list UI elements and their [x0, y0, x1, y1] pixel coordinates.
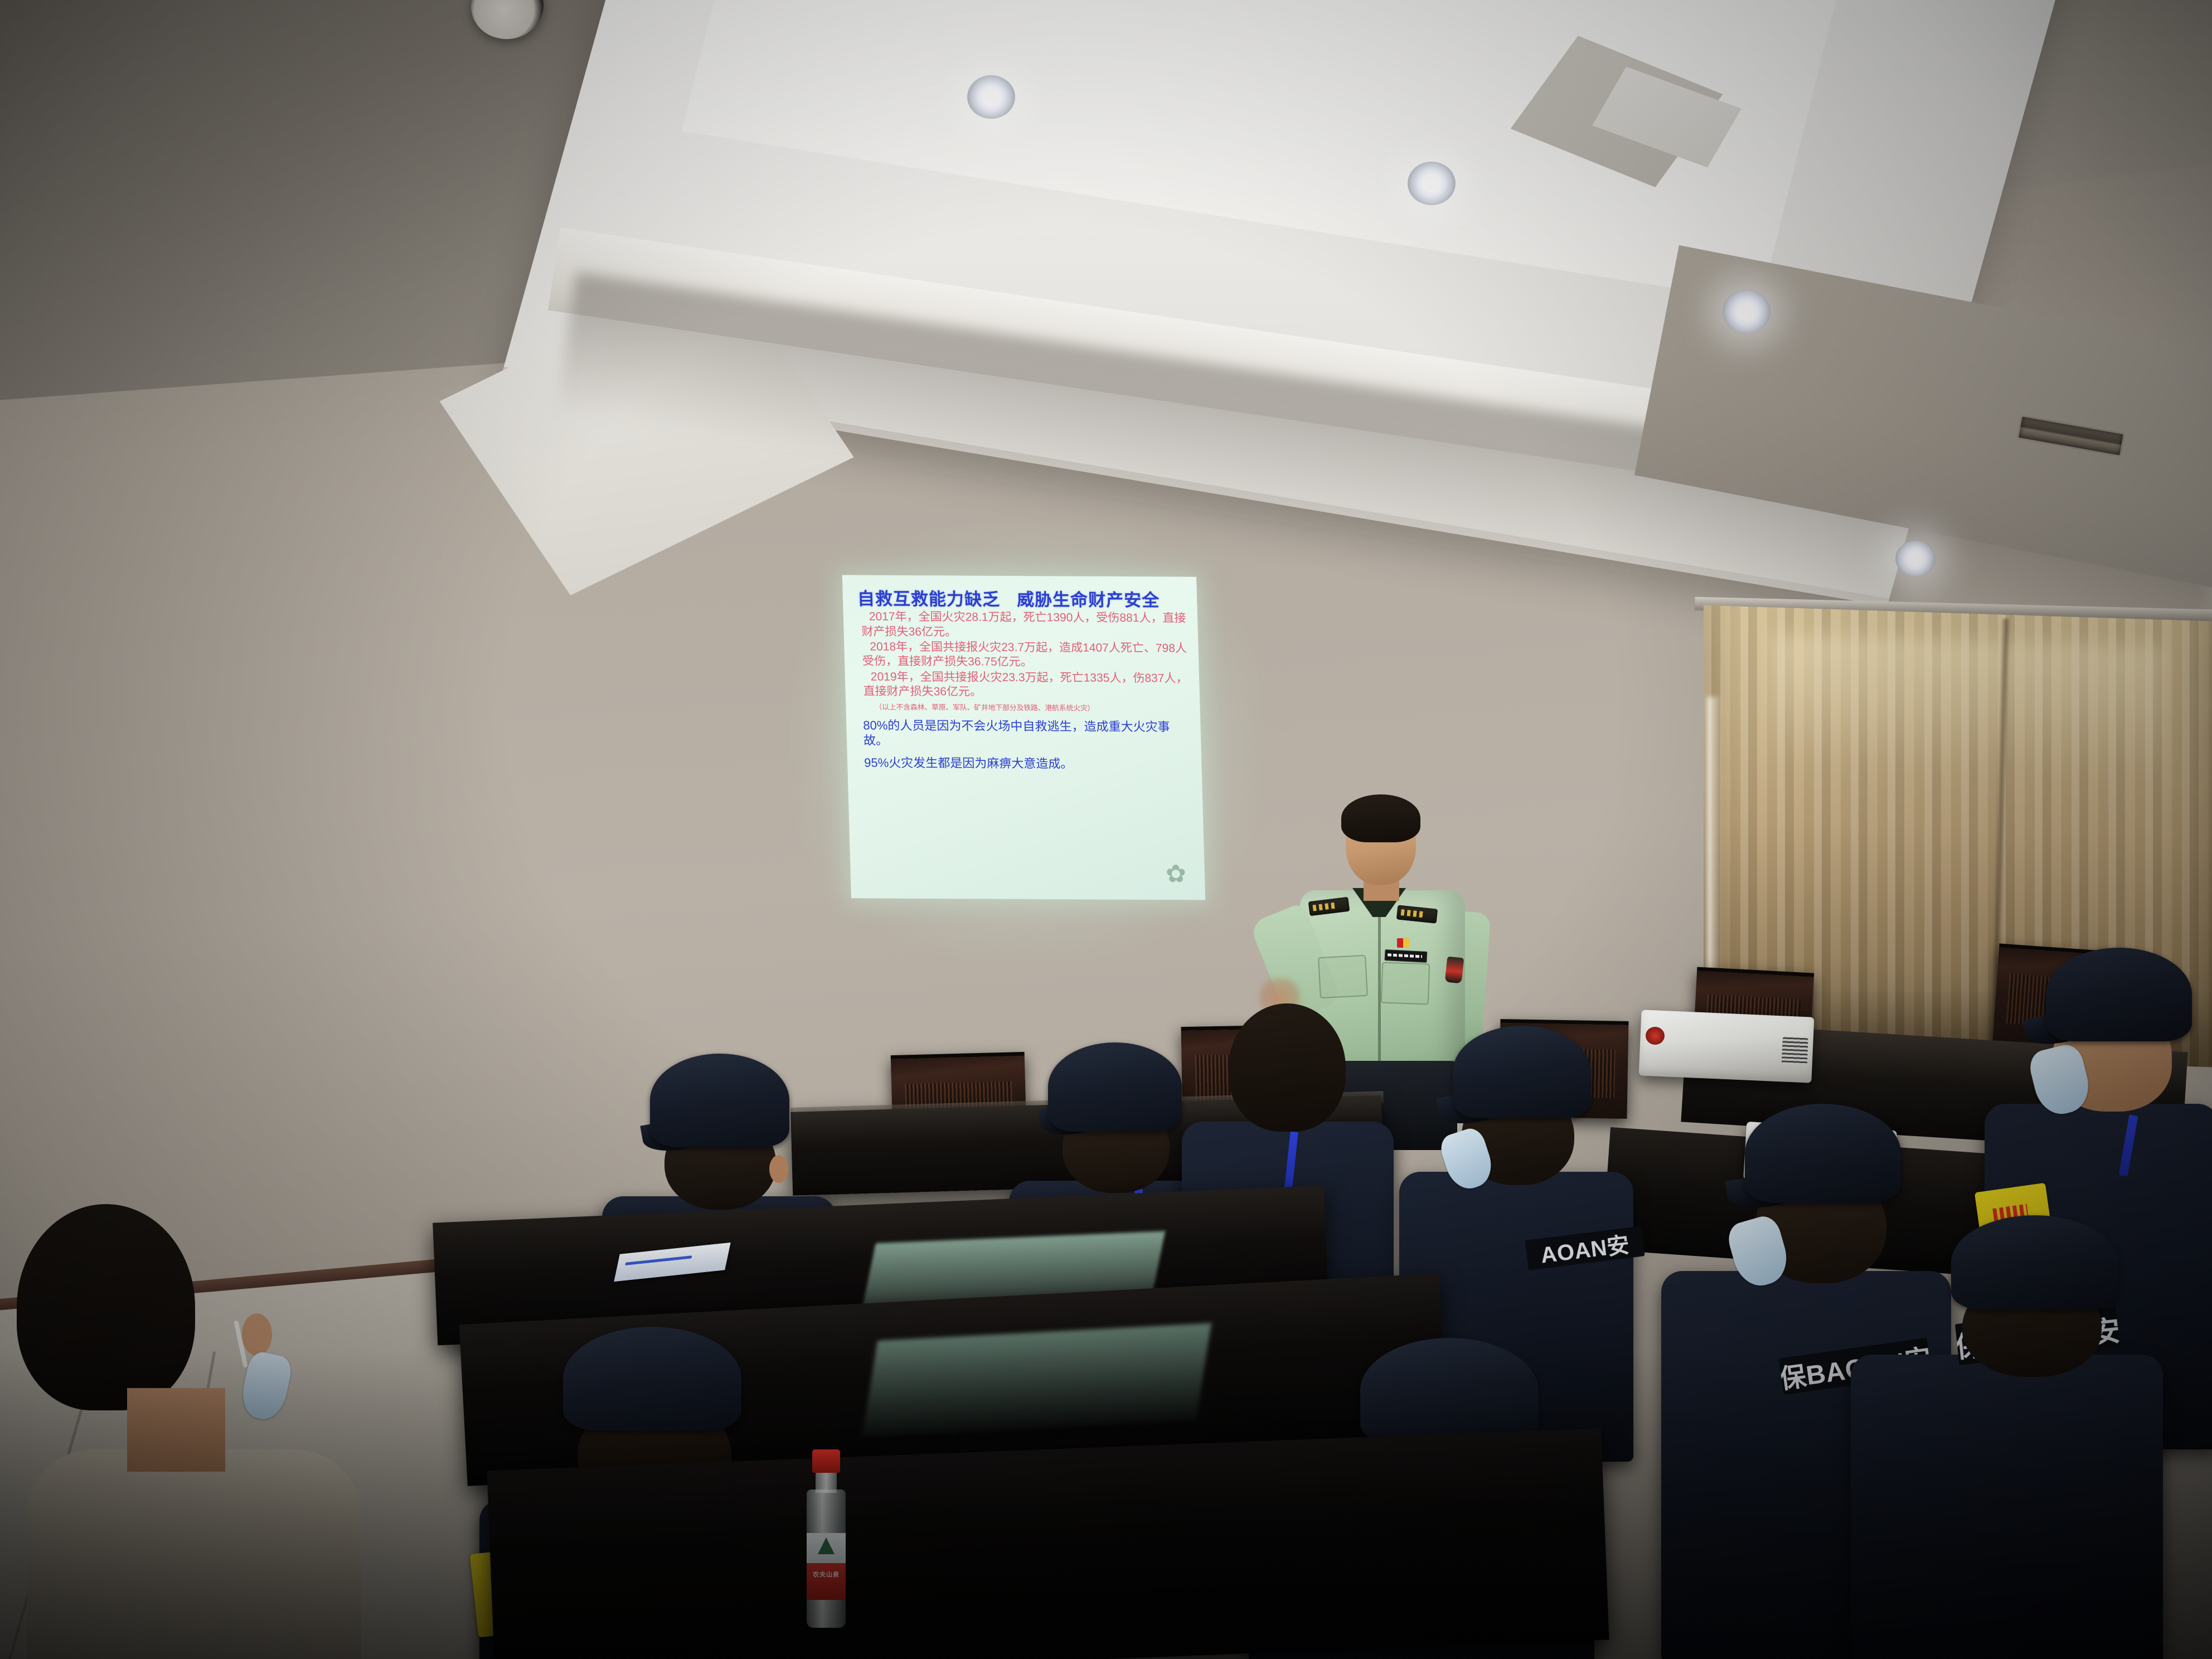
guard-cap: [1951, 1215, 2118, 1310]
bottle-label-lower: [807, 1563, 846, 1600]
slide-title-right: 威胁生命财产安全: [1017, 590, 1160, 610]
ceiling-downlight-icon: [967, 75, 1015, 119]
civilian-ear: [242, 1313, 272, 1356]
projection-screen[interactable]: 自救互救能力缺乏威胁生命财产安全 2017年，全国火灾28.1万起，死亡1390…: [842, 575, 1206, 900]
ceiling-downlight-icon: [1895, 541, 1935, 576]
civilian-head: [17, 1204, 195, 1410]
guard-ear: [769, 1155, 788, 1183]
bottle-neck: [816, 1471, 837, 1493]
audience-guard: 保BAOAN安: [1851, 1215, 2163, 1659]
guard-uniform-jacket: [1851, 1355, 2163, 1659]
desk-screen-reflection: [862, 1323, 1211, 1436]
presenter-chest-pocket: [1381, 962, 1430, 1005]
slide-highlight-95: 95%火灾发生都是因为麻痹大意造成。: [864, 756, 1191, 773]
civilian-top: [27, 1449, 361, 1659]
guard-cap: [650, 1054, 789, 1147]
slide-highlight-80: 80%的人员是因为不会火场中自救逃生，造成重大火灾事故。: [863, 719, 1190, 750]
presenter-hair: [1341, 794, 1420, 842]
ceiling-downlight-icon: [1723, 290, 1770, 333]
slide-title: 自救互救能力缺乏威胁生命财产安全: [857, 590, 1186, 610]
curtain-daylight-glow: [1773, 635, 2163, 775]
slide-stat-2017: 2017年，全国火灾28.1万起，死亡1390人，受伤881人，直接财产损失36…: [861, 610, 1187, 641]
meeting-room-photo: 自救互救能力缺乏威胁生命财产安全 2017年，全国火灾28.1万起，死亡1390…: [0, 0, 2212, 1659]
bottle-brand-text: 农夫山泉: [801, 1570, 851, 1579]
projector-unit[interactable]: [1639, 1010, 1815, 1083]
slide-title-left: 自救互救能力缺乏: [857, 589, 1000, 609]
water-bottle[interactable]: 农夫山泉: [801, 1449, 850, 1628]
guard-cap: [1360, 1338, 1539, 1444]
presenter-chest-pocket: [1318, 955, 1368, 998]
slide-stat-2018: 2018年，全国共接报火灾23.7万起，造成1407人死亡、798人受伤，直接财…: [862, 640, 1188, 671]
guard-cap: [563, 1327, 741, 1430]
guard-cap: [1048, 1042, 1182, 1132]
slide-stat-2019: 2019年，全国共接报火灾23.3万起，死亡1335人，伤837人，直接财产损失…: [862, 670, 1189, 701]
slide-decorative-logo-icon: ✿: [1165, 862, 1196, 896]
guard-cap: [1453, 1026, 1591, 1118]
presenter-name-tag: [1385, 949, 1428, 963]
window-light-edge: [1707, 697, 1721, 1009]
presenter-flag-badge-icon: [1397, 938, 1409, 948]
presenter-shoulder-patch-icon: [1445, 957, 1464, 984]
guard-cap: [2046, 948, 2192, 1041]
audience-civilian: [17, 1204, 362, 1659]
bottle-cap[interactable]: [812, 1449, 840, 1473]
civilian-neck: [127, 1388, 225, 1472]
nongfu-mountain-logo-icon: [818, 1537, 835, 1554]
guard-head: [1229, 1003, 1346, 1132]
slide-footnote: （以上不含森林、草原、军队、矿井地下部分及铁路、港航系统火灾）: [875, 702, 1189, 713]
guard-cap: [1745, 1104, 1901, 1203]
ceiling-downlight-icon: [1408, 162, 1456, 205]
